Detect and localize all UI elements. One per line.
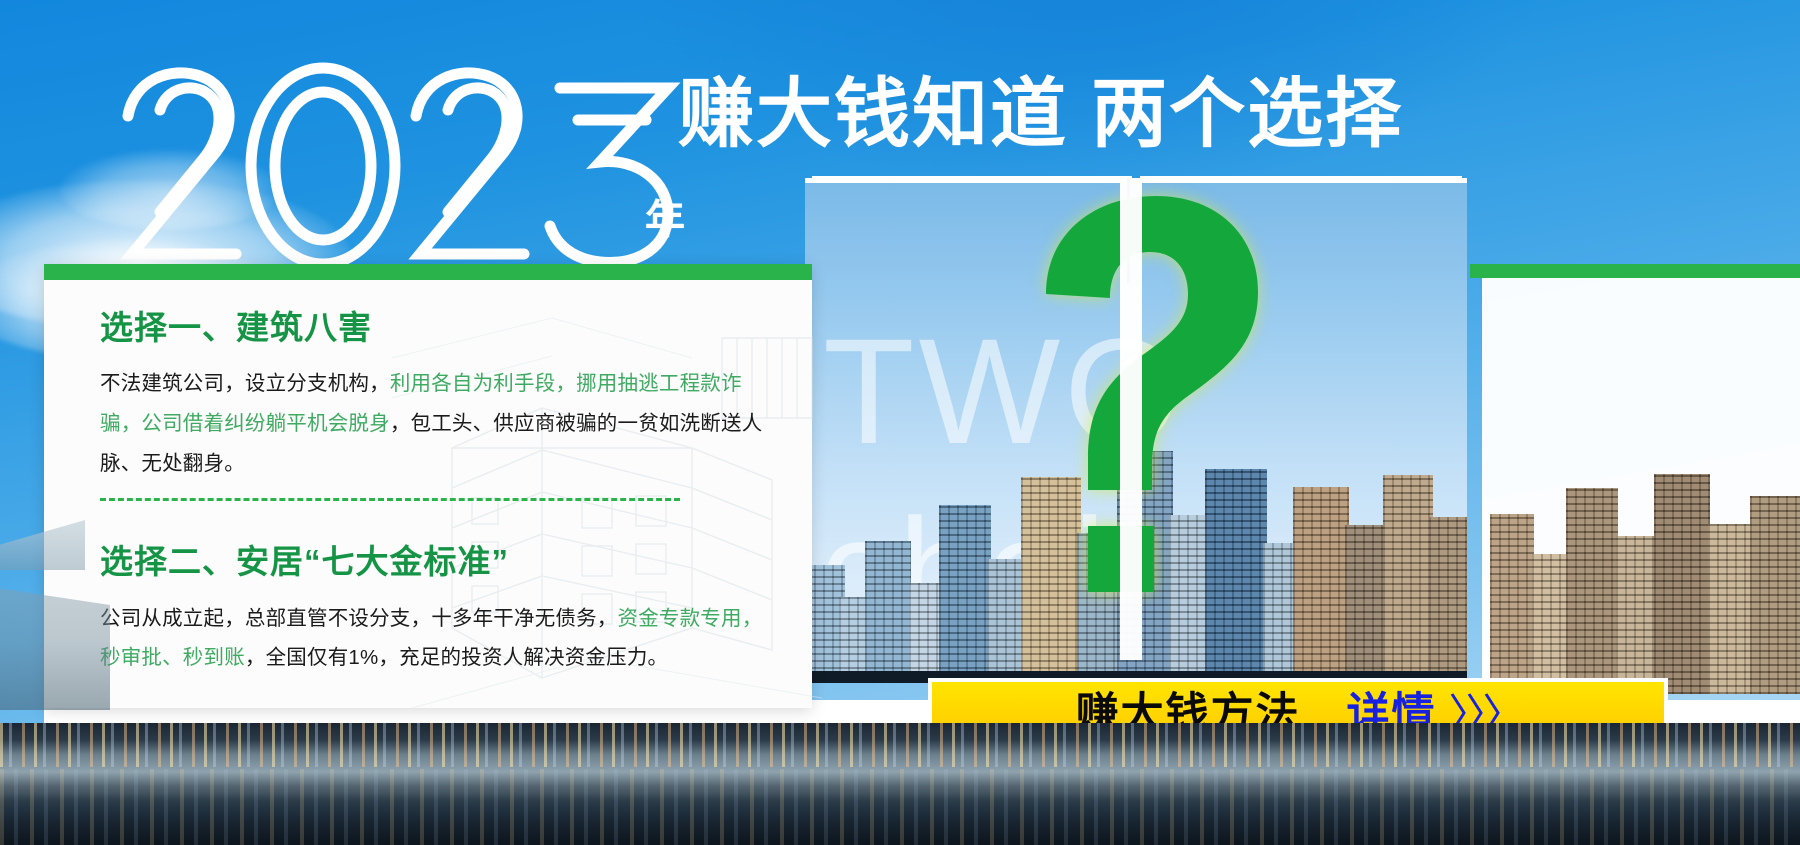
text-run: 公司从成立起，总部直管不设分支，十多年干净无债务， <box>100 607 618 630</box>
water-reflection <box>0 793 1800 845</box>
section-two-title: 选择二、安居“七大金标准” <box>100 544 776 580</box>
section-two: 选择二、安居“七大金标准” 公司从成立起，总部直管不设分支，十多年干净无债务，资… <box>100 484 776 678</box>
section-divider <box>100 498 680 501</box>
year-suffix-label: 年 <box>645 200 685 240</box>
poster-canvas: 年 赚大钱知道 两个选择 TWO choices <box>0 0 1800 845</box>
section-one-body: 不法建筑公司，设立分支机构，利用各自为利手段，挪用抽逃工程款诈骗，公司借着纠纷躺… <box>100 364 776 484</box>
section-one: 选择一、建筑八害 不法建筑公司，设立分支机构，利用各自为利手段，挪用抽逃工程款诈… <box>100 310 776 484</box>
right-buildings-sliver <box>1482 410 1800 694</box>
section-one-title: 选择一、建筑八害 <box>100 310 776 346</box>
right-green-accent-bar <box>1470 264 1800 278</box>
text-run: ，全国仅有1%，充足的投资人解决资金压力。 <box>245 646 668 669</box>
text-run: 不法建筑公司，设立分支机构， <box>100 372 390 395</box>
section-two-body: 公司从成立起，总部直管不设分支，十多年干净无债务，资金专款专用，秒审批、秒到账，… <box>100 599 776 679</box>
panel-white-bar <box>1120 178 1142 660</box>
bottom-city-strip <box>0 723 1800 845</box>
page-title: 赚大钱知道 两个选择 <box>678 74 1403 156</box>
cloud-shape <box>60 150 280 230</box>
content-card: 选择一、建筑八害 不法建筑公司，设立分支机构，利用各自为利手段，挪用抽逃工程款诈… <box>44 264 812 708</box>
